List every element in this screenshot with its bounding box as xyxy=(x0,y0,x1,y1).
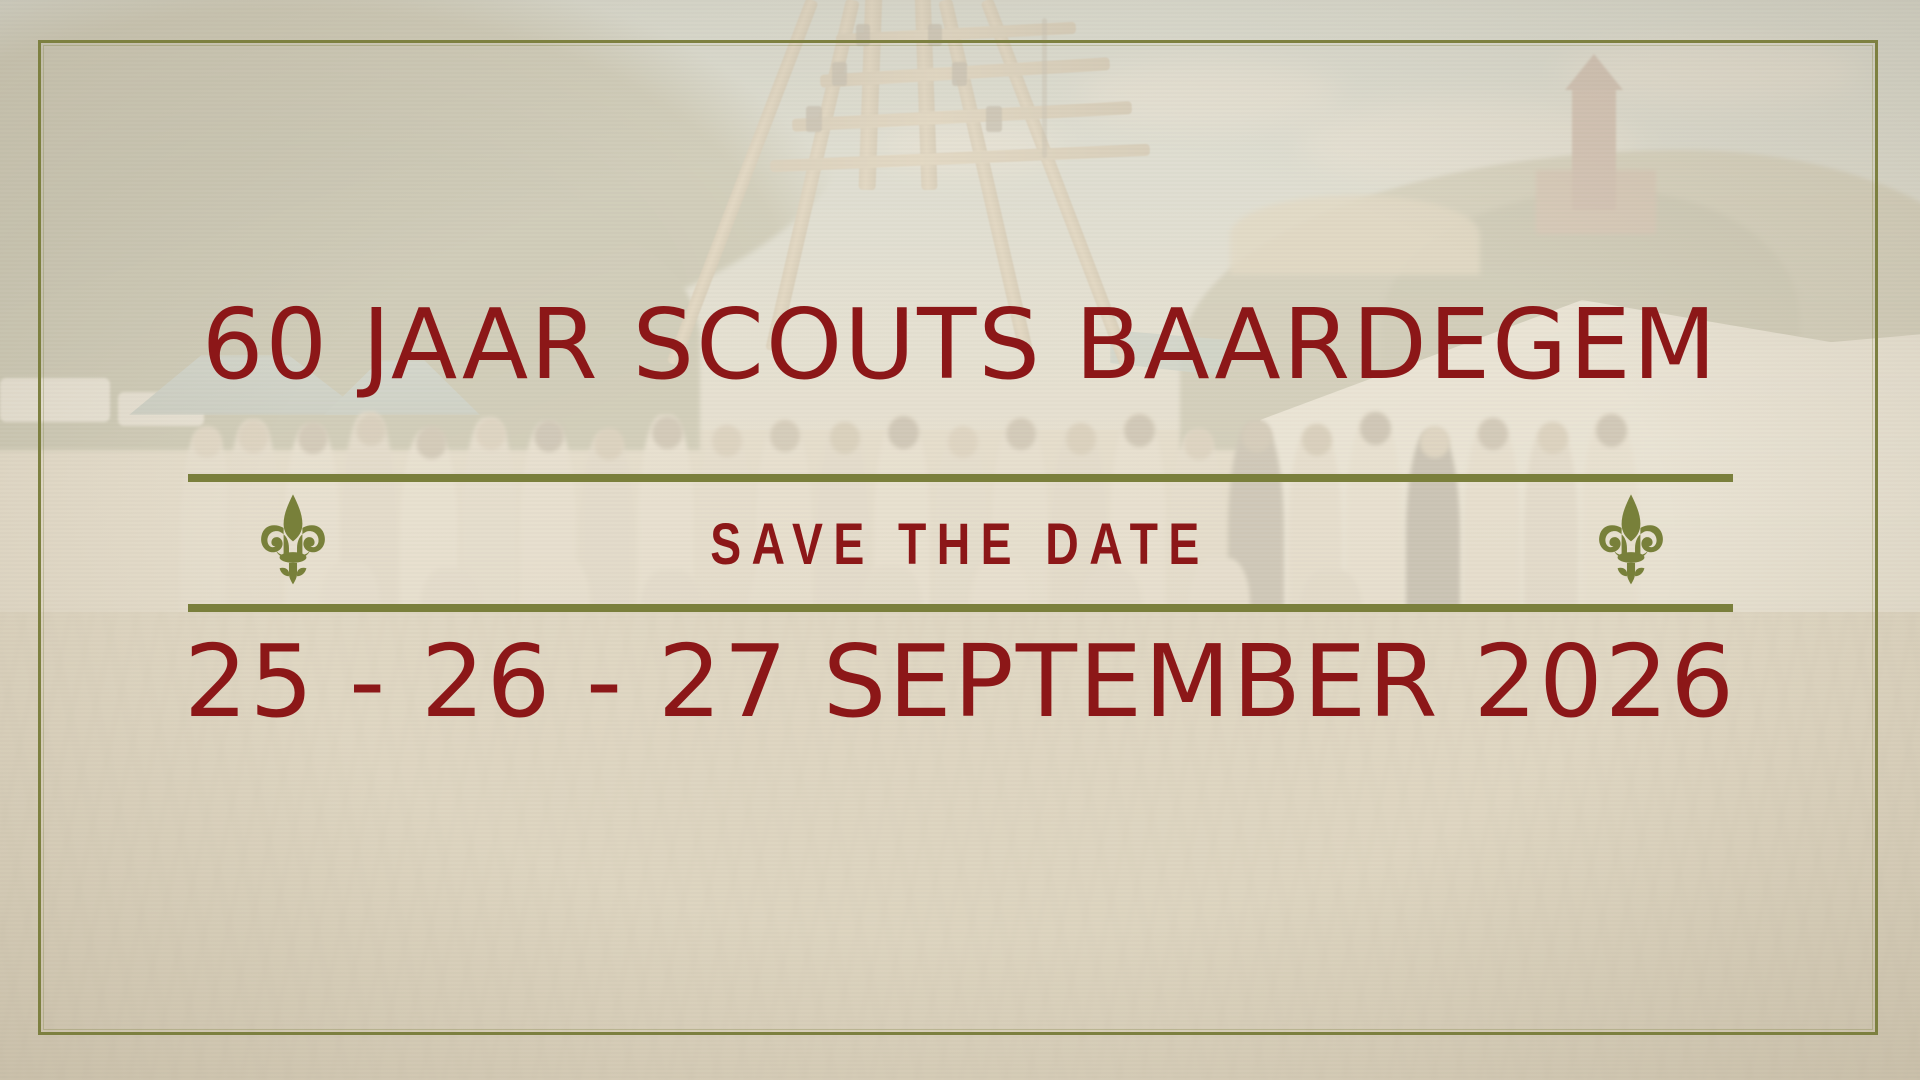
page-title: 60 JAAR SCOUTS BAARDEGEM xyxy=(0,296,1920,393)
fleur-de-lis-icon xyxy=(1596,493,1666,587)
poster-content: 60 JAAR SCOUTS BAARDEGEM SAVE THE DATE xyxy=(0,0,1920,1080)
event-dates: 25 - 26 - 27 SEPTEMBER 2026 xyxy=(0,632,1920,732)
divider-rule-top xyxy=(188,474,1733,482)
divider-rule-bottom xyxy=(188,604,1733,612)
save-the-date-label: SAVE THE DATE xyxy=(192,516,1728,574)
save-the-date-poster: 60 JAAR SCOUTS BAARDEGEM SAVE THE DATE xyxy=(0,0,1920,1080)
